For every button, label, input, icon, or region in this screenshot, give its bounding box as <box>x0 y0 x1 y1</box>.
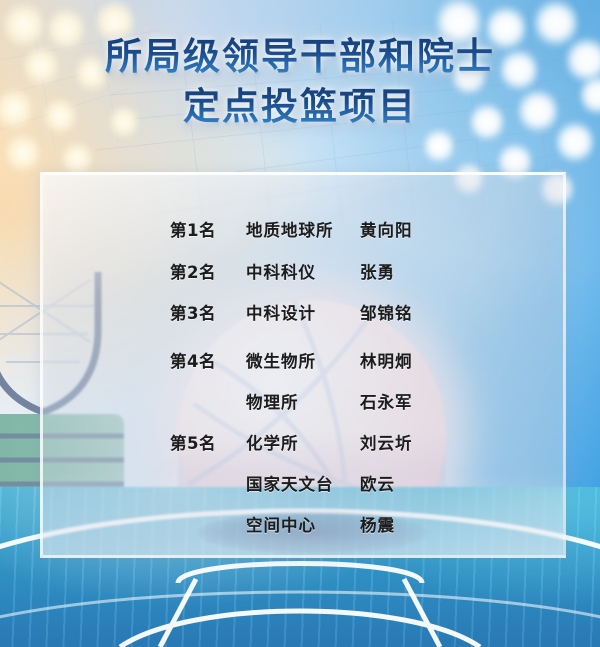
title-line-1: 所局级领导干部和院士 <box>0 32 600 82</box>
person-name: 张勇 <box>360 259 510 283</box>
rank-group-1: 第1名 地质地球所 黄向阳 <box>40 208 566 249</box>
rank-group-5: 第5名 化学所 刘云圻 国家天文台 欧云 空间中心 杨震 <box>40 421 566 544</box>
table-row: 国家天文台 欧云 <box>40 462 566 503</box>
unit-label: 化学所 <box>246 430 366 454</box>
person-name: 杨震 <box>360 512 510 536</box>
rank-label: 第1名 <box>170 217 250 241</box>
person-name: 林明炯 <box>360 348 510 372</box>
person-name: 石永军 <box>360 389 510 413</box>
person-name: 刘云圻 <box>360 430 510 454</box>
poster-root: 所局级领导干部和院士 定点投篮项目 第1名 地质地球所 黄向阳 第2名 中科科仪… <box>0 0 600 647</box>
table-row: 第1名 地质地球所 黄向阳 <box>40 208 566 249</box>
rank-label: 第4名 <box>170 348 250 372</box>
person-name: 邹锦铭 <box>360 300 510 324</box>
table-row: 第2名 中科科仪 张勇 <box>40 250 566 291</box>
unit-label: 物理所 <box>246 389 366 413</box>
table-row: 空间中心 杨震 <box>40 503 566 544</box>
table-row: 第5名 化学所 刘云圻 <box>40 421 566 462</box>
rank-label: 第5名 <box>170 430 250 454</box>
page-title: 所局级领导干部和院士 定点投篮项目 <box>0 32 600 132</box>
table-row: 第3名 中科设计 邹锦铭 <box>40 291 566 332</box>
rank-group-3: 第3名 中科设计 邹锦铭 <box>40 291 566 332</box>
table-row: 物理所 石永军 <box>40 380 566 421</box>
rank-label: 第3名 <box>170 300 250 324</box>
unit-label: 地质地球所 <box>246 217 366 241</box>
rank-group-4: 第4名 微生物所 林明炯 物理所 石永军 <box>40 339 566 421</box>
title-line-2: 定点投篮项目 <box>0 82 600 132</box>
results-list: 第1名 地质地球所 黄向阳 第2名 中科科仪 张勇 第3名 中科设计 邹锦铭 第… <box>40 172 566 558</box>
rank-label: 第2名 <box>170 259 250 283</box>
unit-label: 空间中心 <box>246 512 366 536</box>
unit-label: 中科设计 <box>246 300 366 324</box>
table-row: 第4名 微生物所 林明炯 <box>40 339 566 380</box>
unit-label: 微生物所 <box>246 348 366 372</box>
unit-label: 中科科仪 <box>246 259 366 283</box>
person-name: 欧云 <box>360 471 510 495</box>
rank-group-2: 第2名 中科科仪 张勇 <box>40 250 566 291</box>
unit-label: 国家天文台 <box>246 471 366 495</box>
person-name: 黄向阳 <box>360 217 510 241</box>
